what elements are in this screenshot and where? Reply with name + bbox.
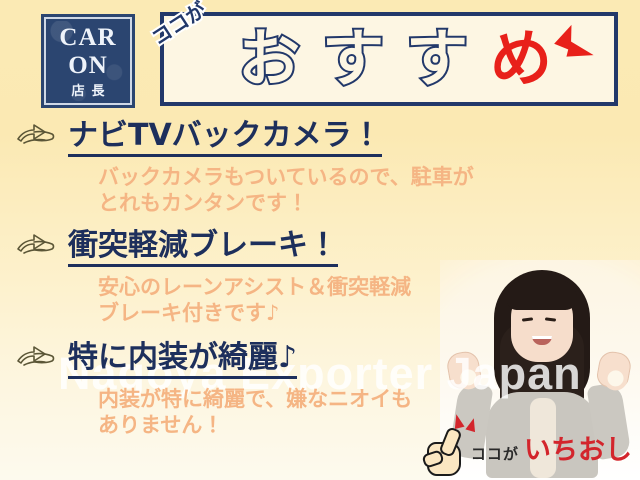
sparkle-mark-icon bbox=[465, 417, 478, 432]
feature-description-line: ブレーキ付きです♪ bbox=[98, 300, 498, 326]
headline-char-3: す bbox=[406, 28, 468, 90]
badge-ichioshi-label: いちおし bbox=[524, 435, 632, 466]
pointing-hand-icon bbox=[14, 119, 62, 153]
badge-kokoga-label: ココが bbox=[471, 445, 519, 463]
ichioshi-badge: ココが いちおし bbox=[423, 426, 632, 474]
feature-description-line: 安心のレーンアシスト＆衝突軽減 bbox=[98, 274, 498, 300]
feature-item: 特に内装が綺麗♪ 内装が特に綺麗で、嫌なニオイも ありません！ bbox=[14, 342, 640, 438]
headline-char-1: お bbox=[238, 28, 300, 90]
feature-description-line: 内装が特に綺麗で、嫌なニオイも bbox=[98, 386, 498, 412]
headline-box: お す す め bbox=[160, 12, 618, 106]
feature-description: 安心のレーンアシスト＆衝突軽減 ブレーキ付きです♪ bbox=[98, 274, 498, 326]
feature-list: ナビTVバックカメラ！ バックカメラもついているので、駐車が とれもカンタンです… bbox=[0, 120, 640, 438]
feature-item: ナビTVバックカメラ！ バックカメラもついているので、駐車が とれもカンタンです… bbox=[14, 120, 640, 216]
burst-marks-icon bbox=[548, 24, 596, 72]
stamp-line-tencho: 店長 bbox=[64, 85, 111, 98]
headline-char-2: す bbox=[322, 28, 384, 90]
stamp-line-car: CAR bbox=[59, 25, 116, 50]
feature-title: ナビTVバックカメラ！ bbox=[68, 120, 382, 157]
pointing-hand-icon bbox=[14, 229, 62, 263]
feature-title: 特に内装が綺麗♪ bbox=[68, 342, 297, 379]
feature-item: 衝突軽減ブレーキ！ 安心のレーンアシスト＆衝突軽減 ブレーキ付きです♪ bbox=[14, 230, 640, 326]
poster-header: CAR ON 店長 お す す め ココが bbox=[0, 0, 640, 112]
feature-title: 衝突軽減ブレーキ！ bbox=[68, 230, 338, 267]
feature-heading-row: 衝突軽減ブレーキ！ bbox=[14, 230, 640, 267]
feature-description-line: とれもカンタンです！ bbox=[98, 190, 498, 216]
headline-char-4-accent: め bbox=[490, 28, 552, 90]
feature-description-line: バックカメラもついているので、駐車が bbox=[98, 164, 498, 190]
pointing-finger-badge-icon bbox=[423, 426, 469, 474]
feature-description: バックカメラもついているので、駐車が とれもカンタンです！ bbox=[98, 164, 498, 216]
headline: お す す め bbox=[226, 28, 552, 90]
feature-heading-row: ナビTVバックカメラ！ bbox=[14, 120, 640, 157]
stamp-line-on: ON bbox=[68, 53, 108, 78]
feature-heading-row: 特に内装が綺麗♪ bbox=[14, 342, 640, 379]
promo-poster: Nagoya Exporter Japan CAR ON 店長 お す す め … bbox=[0, 0, 640, 480]
car-on-stamp-logo: CAR ON 店長 bbox=[41, 14, 135, 108]
badge-text-group: ココが いちおし bbox=[471, 437, 632, 464]
pointing-hand-icon bbox=[14, 341, 62, 375]
